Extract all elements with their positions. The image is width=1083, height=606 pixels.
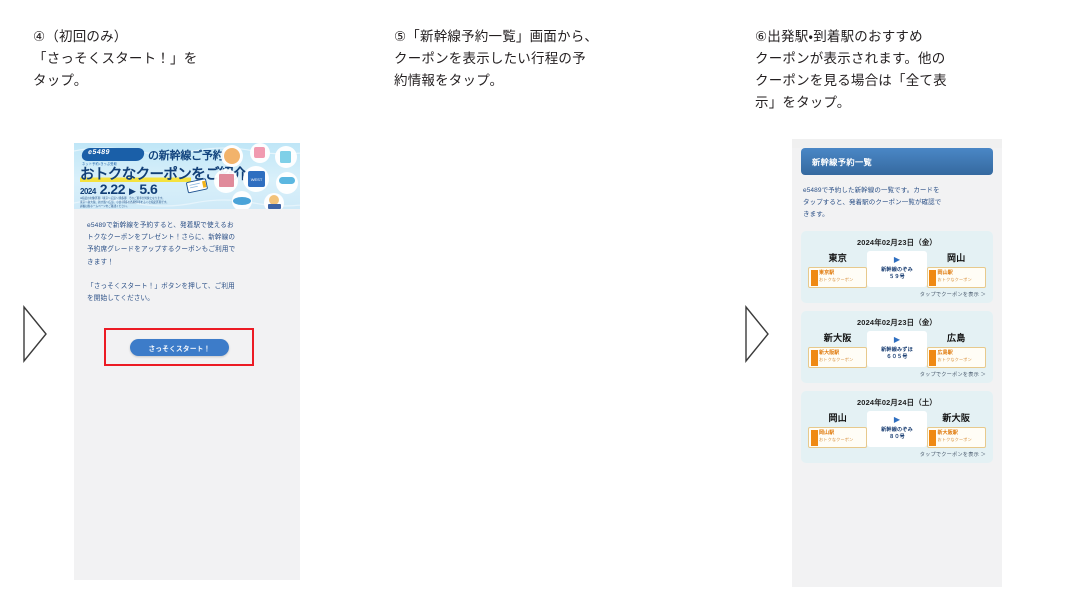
phone1-body: e5489で新幹線を予約すると、発着駅で使えるお トクなクーポンをプレゼント！さ… [74, 209, 300, 305]
banner-illustration: WEST [208, 143, 300, 209]
banner-fine-print: ※指定の対象区間（東京～広島～博多間）でのご乗車が対象となります。 東京～新大阪… [80, 197, 198, 208]
banner-date-end: 5.6 [139, 181, 157, 197]
e5489-logo-text: e5489 [87, 149, 110, 156]
campaign-banner: e5489 ネット予約・きっぷ受取 の新幹線ご予約で おトクなクーポンをご紹介 … [74, 143, 300, 209]
step-caption-4: ④（初回のみ） 「さっそくスタート！」を タップ。 [33, 26, 343, 92]
step-column-4: ④（初回のみ） 「さっそくスタート！」を タップ。 e5489 ネット予約・きっ… [0, 0, 361, 606]
cta-paragraph: 「さっそくスタート！」ボタンを押して、ご利用 を開始してください。 [87, 281, 287, 305]
banner-date-arrow: ▶ [129, 186, 135, 196]
svg-text:WEST: WEST [251, 177, 263, 182]
phone-screenshot-step4: e5489 ネット予約・きっぷ受取 の新幹線ご予約で おトクなクーポンをご紹介 … [74, 143, 300, 580]
step-caption-5: ⑤「新幹線予約一覧」画面から、 クーポンを表示したい行程の予 約情報をタップ。 [394, 26, 704, 92]
banner-date-start: 2.22 [100, 181, 125, 197]
banner-year: 2024 [80, 187, 96, 196]
step-column-5: ⑤「新幹線予約一覧」画面から、 クーポンを表示したい行程の予 約情報をタップ。 … [361, 0, 722, 606]
flow-arrow-icon [22, 305, 48, 363]
start-button[interactable]: さっそくスタート！ [130, 339, 229, 356]
intro-paragraph: e5489で新幹線を予約すると、発着駅で使えるお トクなクーポンをプレゼント！さ… [87, 220, 287, 269]
step-column-6: ⑥出発駅・到着駅のおすすめ クーポンが表示されます。他の クーポンを見る場合は「… [722, 0, 1083, 606]
step-caption-6: ⑥出発駅・到着駅のおすすめ クーポンが表示されます。他の クーポンを見る場合は「… [755, 26, 1065, 113]
